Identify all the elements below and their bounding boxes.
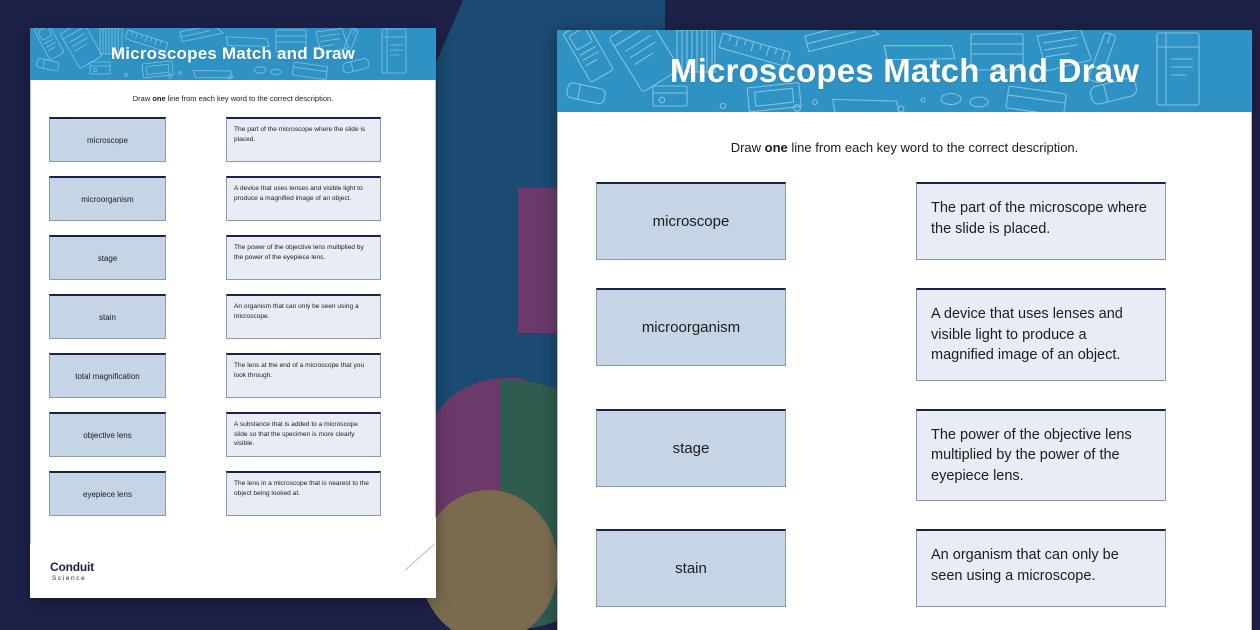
description-box[interactable]: A device that uses lenses and visible li…	[226, 176, 381, 221]
match-row: microorganism A device that uses lenses …	[49, 176, 417, 221]
instruction-bold-word: one	[765, 140, 788, 155]
worksheet-instruction: Draw one line from each key word to the …	[596, 140, 1213, 155]
screenshot-canvas: Microscopes Match and Draw Draw one line…	[0, 0, 1260, 630]
match-rows-left: microscope The part of the microscope wh…	[49, 117, 417, 530]
description-box[interactable]: The part of the microscope where the sli…	[916, 182, 1166, 260]
brand-logo: Conduit Science	[50, 560, 94, 582]
worksheet-banner-left: Microscopes Match and Draw	[30, 28, 436, 80]
match-row: stage The power of the objective lens mu…	[596, 409, 1213, 502]
keyword-box[interactable]: stain	[49, 294, 166, 339]
worksheet-sheet-left: Draw one line from each key word to the …	[30, 80, 436, 544]
instruction-prefix: Draw	[731, 140, 765, 155]
description-box[interactable]: A substance that is added to a microscop…	[226, 412, 381, 457]
keyword-box[interactable]: microorganism	[596, 288, 786, 366]
keyword-box[interactable]: microscope	[49, 117, 166, 162]
worksheet-instruction: Draw one line from each key word to the …	[49, 94, 417, 103]
description-box[interactable]: The part of the microscope where the sli…	[226, 117, 381, 162]
worksheet-banner-right: Microscopes Match and Draw	[557, 30, 1252, 112]
description-box[interactable]: An organism that can only be seen using …	[916, 529, 1166, 607]
description-box[interactable]: The power of the objective lens multipli…	[226, 235, 381, 280]
description-box[interactable]: The lens at the end of a microscope that…	[226, 353, 381, 398]
match-row: microscope The part of the microscope wh…	[49, 117, 417, 162]
worksheet-title: Microscopes Match and Draw	[670, 52, 1139, 90]
match-row: stain An organism that can only be seen …	[49, 294, 417, 339]
keyword-box[interactable]: stain	[596, 529, 786, 607]
match-row: eyepiece lens The lens in a microscope t…	[49, 471, 417, 516]
worksheet-card-right[interactable]: Microscopes Match and Draw Draw one line…	[557, 30, 1252, 630]
page-fold-crease	[405, 543, 435, 571]
match-row: microorganism A device that uses lenses …	[596, 288, 1213, 381]
keyword-box[interactable]: objective lens	[49, 412, 166, 457]
keyword-box[interactable]: stage	[49, 235, 166, 280]
brand-subtitle: Science	[52, 575, 94, 582]
description-box[interactable]: A device that uses lenses and visible li…	[916, 288, 1166, 381]
keyword-box[interactable]: eyepiece lens	[49, 471, 166, 516]
instruction-prefix: Draw	[133, 94, 153, 103]
keyword-box[interactable]: microorganism	[49, 176, 166, 221]
brand-name: Conduit	[50, 560, 94, 574]
match-rows-right: microscope The part of the microscope wh…	[596, 182, 1213, 630]
match-row: objective lens A substance that is added…	[49, 412, 417, 457]
keyword-box[interactable]: microscope	[596, 182, 786, 260]
keyword-box[interactable]: stage	[596, 409, 786, 487]
match-row: microscope The part of the microscope wh…	[596, 182, 1213, 260]
worksheet-card-left[interactable]: Microscopes Match and Draw Draw one line…	[30, 28, 436, 598]
instruction-suffix: line from each key word to the correct d…	[166, 94, 334, 103]
background-shape-tan-ellipse	[420, 490, 558, 630]
description-box[interactable]: An organism that can only be seen using …	[226, 294, 381, 339]
worksheet-title: Microscopes Match and Draw	[111, 44, 355, 64]
description-box[interactable]: The power of the objective lens multipli…	[916, 409, 1166, 502]
instruction-bold-word: one	[152, 94, 165, 103]
keyword-box[interactable]: total magnification	[49, 353, 166, 398]
match-row: total magnification The lens at the end …	[49, 353, 417, 398]
match-row: stain An organism that can only be seen …	[596, 529, 1213, 607]
match-row: stage The power of the objective lens mu…	[49, 235, 417, 280]
worksheet-sheet-right: Draw one line from each key word to the …	[557, 112, 1252, 630]
instruction-suffix: line from each key word to the correct d…	[788, 140, 1078, 155]
description-box[interactable]: The lens in a microscope that is nearest…	[226, 471, 381, 516]
